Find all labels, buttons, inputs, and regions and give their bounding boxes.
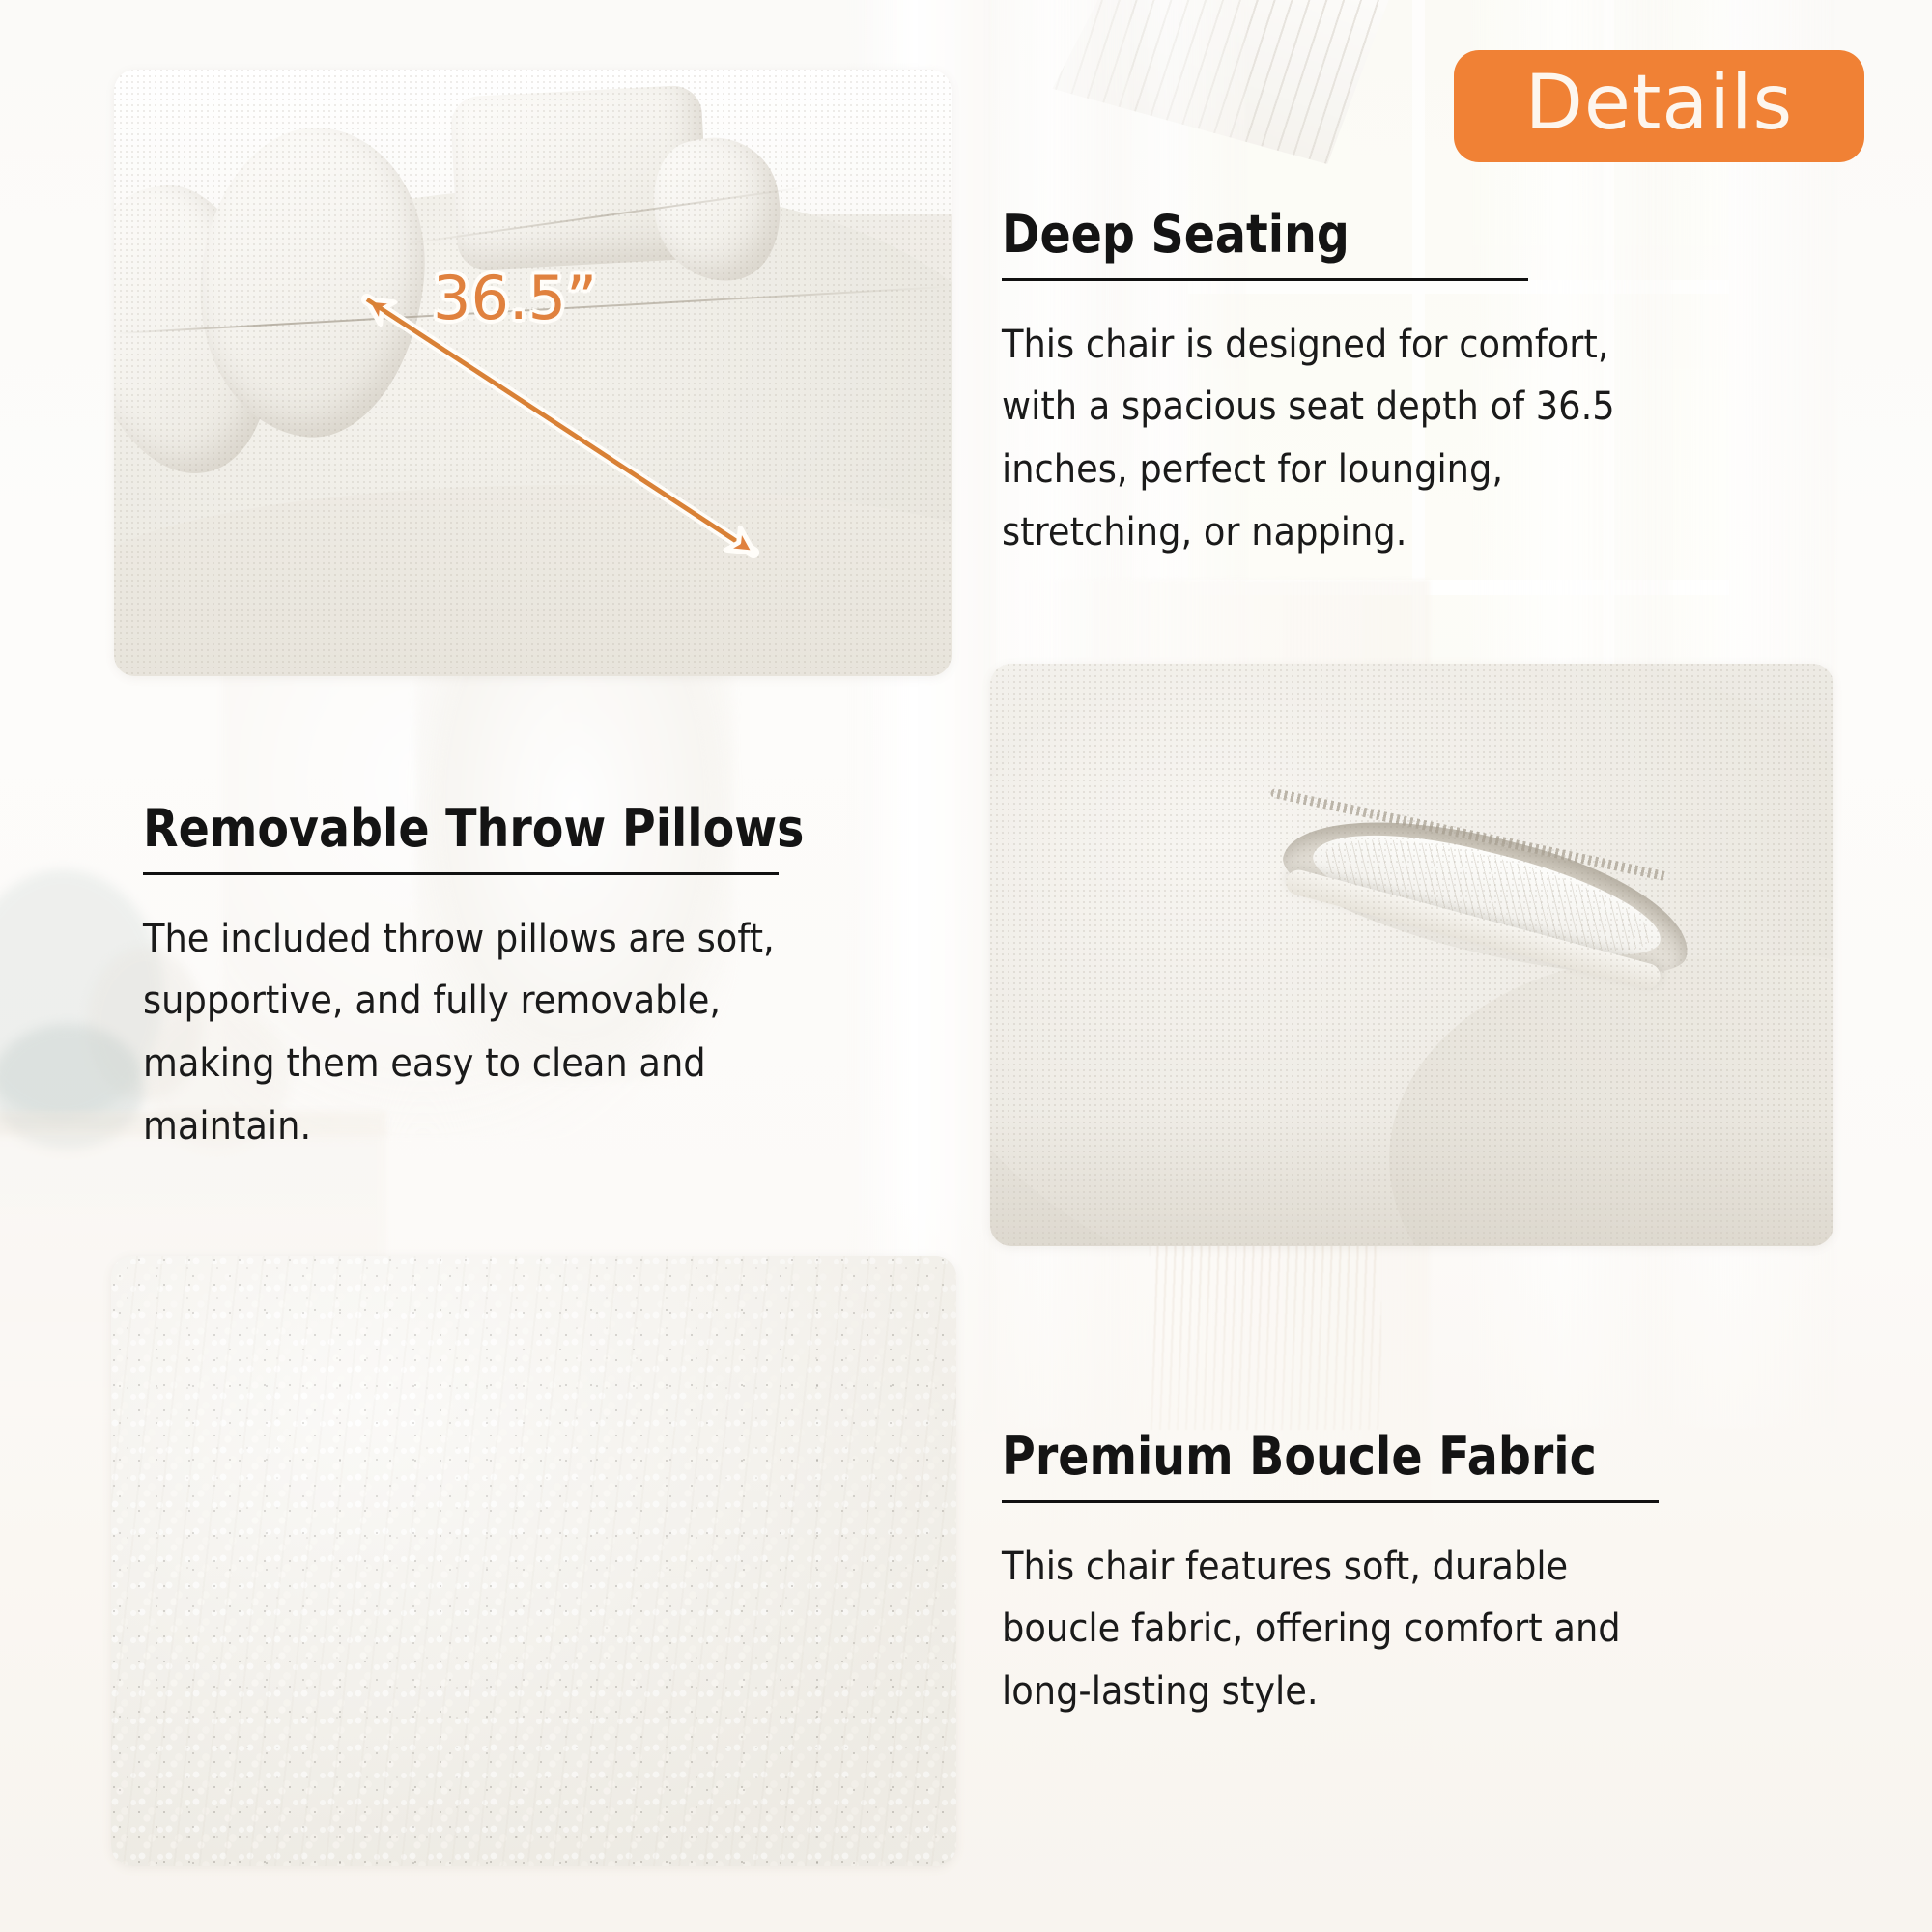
section-heading-removable-throw-pillows: Removable Throw Pillows [143,802,755,857]
section-heading-deep-seating: Deep Seating [1002,208,1597,263]
zipper-photo [990,664,1833,1246]
section-body-removable-throw-pillows: The included throw pillows are soft, sup… [143,908,782,1158]
seat-photo-boucle-texture [114,70,952,676]
section-divider-deep-seating [1002,278,1528,281]
section-body-deep-seating: This chair is designed for comfort, with… [1002,314,1624,564]
section-divider-premium-boucle-fabric [1002,1500,1659,1503]
section-premium-boucle-fabric: Premium Boucle Fabric This chair feature… [1002,1430,1717,1723]
section-body-premium-boucle-fabric: This chair features soft, durable boucle… [1002,1536,1660,1723]
details-badge-label: Details [1525,66,1793,141]
seat-depth-photo [114,70,952,676]
seat-photo-scene [114,70,952,676]
zipper-photo-bottom-shadow [990,1111,1833,1246]
fabric-swatch-shading [111,1256,956,1866]
section-deep-seating: Deep Seating This chair is designed for … [1002,208,1678,564]
section-removable-throw-pillows: Removable Throw Pillows The included thr… [143,802,838,1158]
section-divider-removable-throw-pillows [143,872,779,875]
seat-depth-label: 36.5” [433,263,597,333]
section-heading-premium-boucle-fabric: Premium Boucle Fabric [1002,1430,1631,1485]
fabric-swatch-photo [111,1256,956,1866]
details-badge: Details [1454,50,1864,162]
